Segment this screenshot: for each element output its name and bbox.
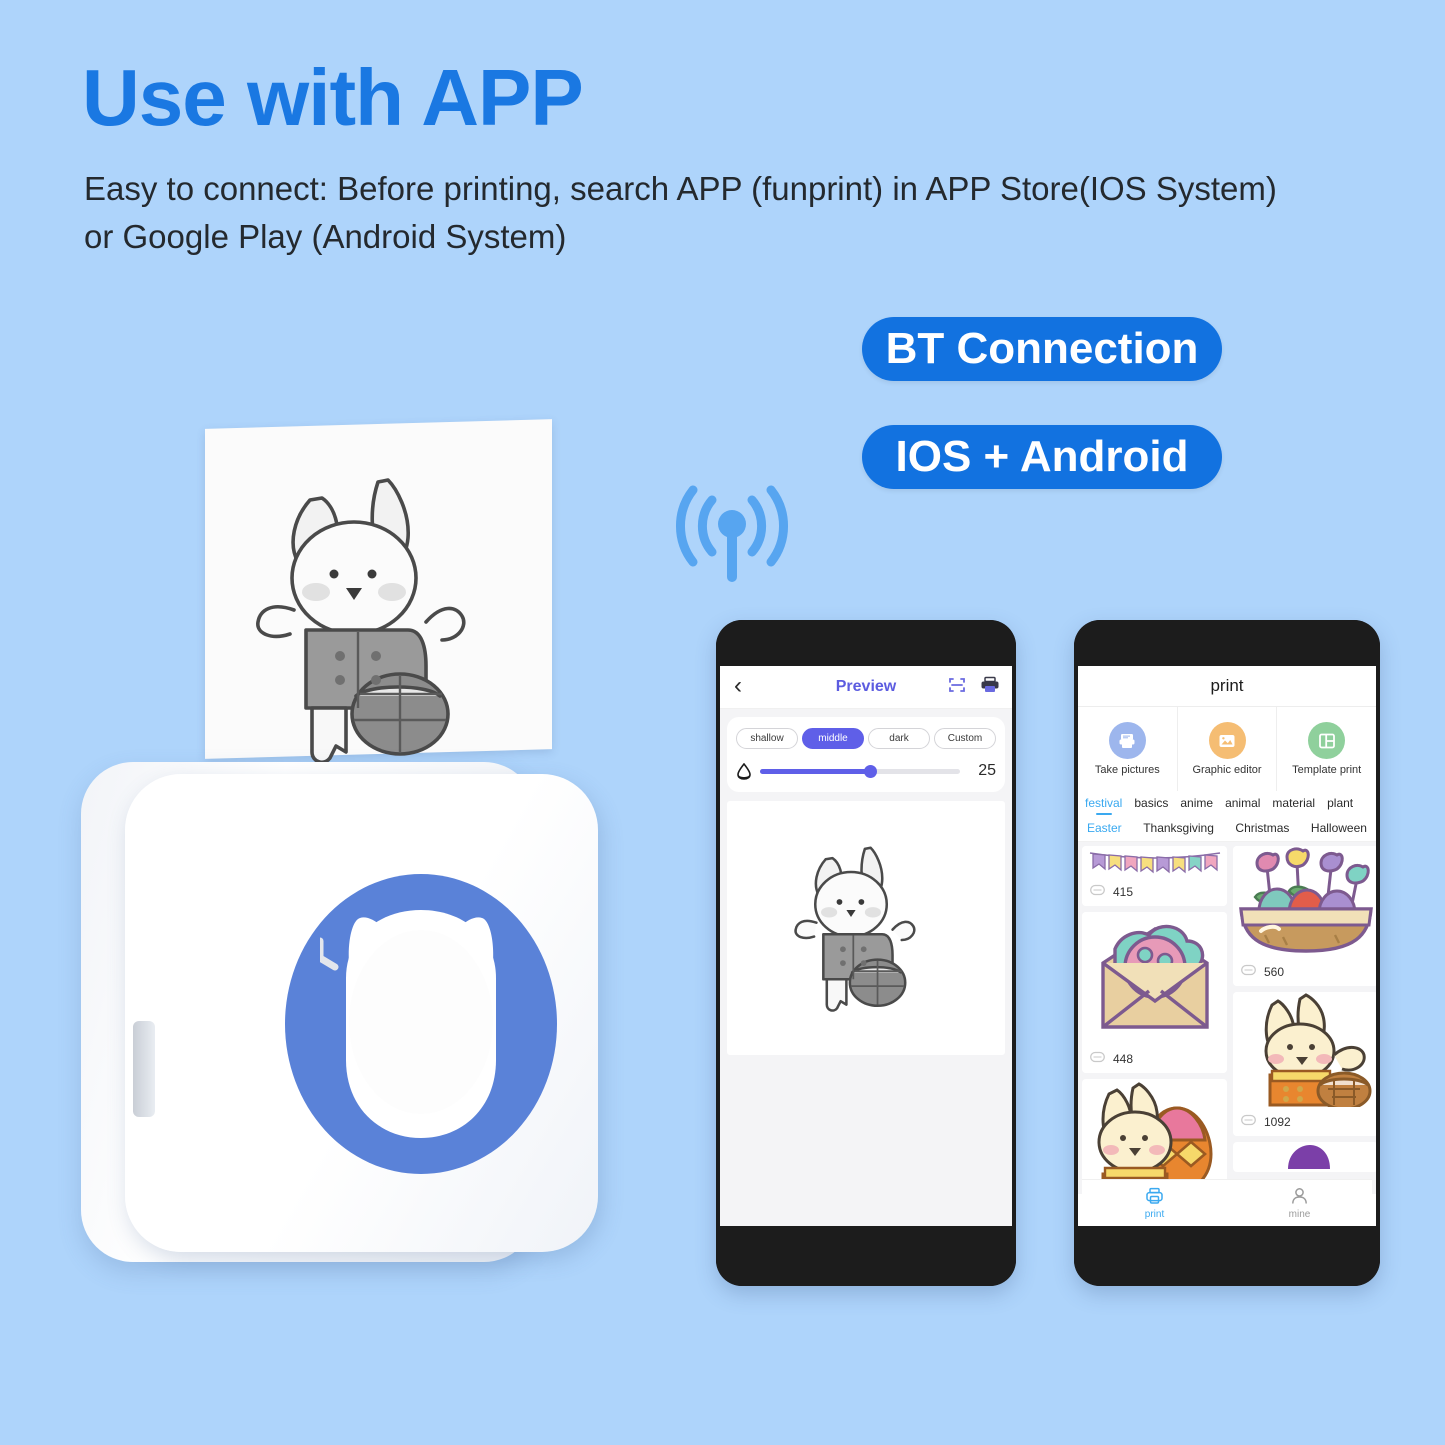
density-chip-custom[interactable]: Custom <box>934 728 996 749</box>
bunny-with-basket-sticker <box>1233 992 1376 1108</box>
nav-item-mine-label: mine <box>1289 1209 1311 1220</box>
preview-header: ‹ Preview <box>720 666 1012 709</box>
bunting-flags-sticker <box>1082 846 1227 878</box>
badge-ios-android: IOS + Android <box>862 425 1222 489</box>
printer-usb-port <box>133 1021 155 1117</box>
action-graphic-editor[interactable]: Graphic editor <box>1178 707 1278 791</box>
print-action-row: Take pictures Graphic editor <box>1078 707 1376 791</box>
phone-top-bezel <box>1074 620 1380 666</box>
sticker-badge-icon <box>1241 1113 1256 1131</box>
action-template-print-label: Template print <box>1292 764 1361 776</box>
subcategory-tab-bar: Easter Thanksgiving Christmas Halloween <box>1078 817 1376 842</box>
template-grid-icon <box>1308 722 1345 759</box>
envelope-egg-sticker <box>1082 912 1227 1045</box>
phone-top-bezel <box>716 620 1016 666</box>
phone-bottom-bezel <box>1074 1228 1380 1286</box>
sticker-tile-bunny-basket[interactable]: 1092 <box>1233 992 1376 1136</box>
nav-item-print[interactable]: print <box>1082 1180 1227 1226</box>
print-title: print <box>1078 666 1376 707</box>
sticker-count: 448 <box>1113 1052 1133 1066</box>
density-slider-value: 25 <box>968 762 996 780</box>
phone-bottom-bezel <box>716 1228 1016 1286</box>
phone-print: print Take pictures <box>1074 620 1380 1286</box>
person-icon <box>1290 1187 1309 1208</box>
easter-basket-sticker <box>1233 846 1376 958</box>
density-chip-shallow[interactable]: shallow <box>736 728 798 749</box>
sticker-tile-bunting[interactable]: 415 <box>1082 846 1227 906</box>
tab-plant[interactable]: plant <box>1327 796 1353 815</box>
mini-thermal-printer <box>75 752 635 1297</box>
sticker-tile-partial[interactable] <box>1233 1142 1376 1172</box>
tab-material[interactable]: material <box>1272 796 1315 815</box>
subtab-halloween[interactable]: Halloween <box>1311 821 1367 835</box>
preview-bunny-artwork <box>791 842 941 1015</box>
preview-screen: ‹ Preview <box>720 666 1012 1226</box>
sticker-grid: 415 <box>1078 842 1376 1194</box>
tab-animal[interactable]: animal <box>1225 796 1260 815</box>
action-graphic-editor-label: Graphic editor <box>1192 764 1261 776</box>
density-chip-dark[interactable]: dark <box>868 728 930 749</box>
action-take-pictures[interactable]: Take pictures <box>1078 707 1178 791</box>
page-title: Use with APP <box>82 58 583 138</box>
subtab-thanksgiving[interactable]: Thanksgiving <box>1143 821 1214 835</box>
category-tab-bar: festival basics anime animal material pl… <box>1078 791 1376 817</box>
tab-anime[interactable]: anime <box>1180 796 1213 815</box>
preview-artwork-card[interactable] <box>727 801 1005 1055</box>
density-card: shallow middle dark Custom <box>727 717 1005 792</box>
wifi-signal-icon <box>672 482 792 587</box>
action-template-print[interactable]: Template print <box>1277 707 1376 791</box>
subtab-christmas[interactable]: Christmas <box>1235 821 1289 835</box>
print-screen: print Take pictures <box>1078 666 1376 1226</box>
bunny-egg-sticker <box>1082 1079 1227 1194</box>
nav-item-mine[interactable]: mine <box>1227 1180 1372 1226</box>
sticker-tile-bunny-egg[interactable] <box>1082 1079 1227 1194</box>
camera-printer-icon <box>1109 722 1146 759</box>
sticker-tile-basket[interactable]: 560 <box>1233 846 1376 986</box>
tri-radial-power-icon <box>320 941 335 967</box>
subtab-easter[interactable]: Easter <box>1087 821 1122 835</box>
badge-ios-label: IOS + Android <box>896 432 1189 482</box>
printer-power-button[interactable] <box>320 902 522 1146</box>
sticker-tile-envelope[interactable]: 448 <box>1082 912 1227 1073</box>
sticker-count: 560 <box>1264 965 1284 979</box>
density-chip-middle[interactable]: middle <box>802 728 864 749</box>
purple-hat-sticker <box>1233 1142 1376 1172</box>
ink-drop-icon <box>736 763 752 780</box>
sticker-badge-icon <box>1090 1050 1105 1068</box>
phone-preview: ‹ Preview <box>716 620 1016 1286</box>
image-edit-icon <box>1209 722 1246 759</box>
printer-icon[interactable] <box>980 676 1000 699</box>
printer-blue-ring <box>285 874 557 1174</box>
printer-body-front <box>125 774 598 1252</box>
tab-basics[interactable]: basics <box>1134 796 1168 815</box>
density-slider-fill <box>760 769 870 774</box>
density-slider-track[interactable] <box>760 769 960 774</box>
sticker-badge-icon <box>1090 883 1105 901</box>
sticker-count: 1092 <box>1264 1115 1291 1129</box>
badge-bt-connection: BT Connection <box>862 317 1222 381</box>
sticker-badge-icon <box>1241 963 1256 981</box>
scan-frame-icon[interactable] <box>948 676 966 699</box>
density-chip-group: shallow middle dark Custom <box>736 728 996 749</box>
tab-festival[interactable]: festival <box>1085 796 1122 815</box>
density-slider-row: 25 <box>736 762 996 780</box>
page-subtitle: Easy to connect: Before printing, search… <box>84 165 1314 261</box>
badge-bt-label: BT Connection <box>886 324 1199 374</box>
printer-icon <box>1145 1187 1164 1208</box>
nav-item-print-label: print <box>1145 1209 1164 1220</box>
action-take-pictures-label: Take pictures <box>1095 764 1160 776</box>
preview-body: shallow middle dark Custom <box>720 709 1012 1226</box>
bottom-navigation: print mine <box>1082 1179 1372 1226</box>
sticker-count: 415 <box>1113 885 1133 899</box>
printed-bunny-artwork <box>250 470 510 770</box>
density-slider-knob[interactable] <box>864 765 877 778</box>
